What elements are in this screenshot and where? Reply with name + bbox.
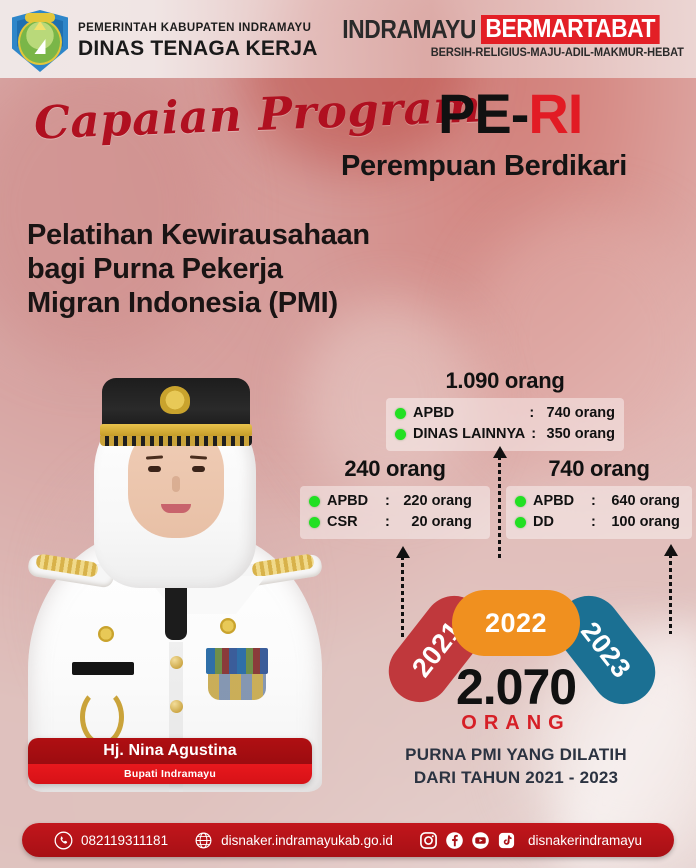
stat-panel-2023: APBD : 640 orang DD : 100 orang (506, 486, 692, 539)
total-unit-word: ORANG (416, 712, 616, 735)
stat-row-value: 220 orang (394, 491, 472, 512)
stat-row: DINAS LAINNYA : 350 orang (395, 424, 615, 445)
stat-row-label: DD (533, 512, 585, 533)
stat-row-colon: : (531, 424, 536, 445)
stat-row-value: 350 orang (540, 424, 615, 445)
poster-canvas: PEMERINTAH KABUPATEN INDRAMAYU DINAS TEN… (0, 0, 696, 868)
acronym-ri: RI (528, 82, 582, 145)
stat-row: APBD : 640 orang (515, 491, 683, 512)
brand-indramayu: INDRAMAYU (342, 14, 476, 45)
org-line-2: DINAS TENAGA KERJA (78, 38, 318, 59)
bullet-dot-icon (309, 517, 320, 528)
stat-panel-2021: APBD : 220 orang CSR : 20 orang (300, 486, 490, 539)
stat-row-colon: : (591, 491, 596, 512)
total-caption: PURNA PMI YANG DILATIH DARI TAHUN 2021 -… (356, 744, 676, 790)
stat-row-value: 740 orang (538, 403, 615, 424)
header-left-group: PEMERINTAH KABUPATEN INDRAMAYU DINAS TEN… (12, 10, 318, 72)
total-number: 2.070 (416, 662, 616, 712)
person-name: Hj. Nina Agustina (103, 742, 237, 760)
instagram-icon[interactable] (419, 831, 438, 850)
stat-row-label: CSR (327, 512, 379, 533)
footer-social-handle-text: disnakerindramayu (528, 833, 642, 848)
acronym-expansion: Perempuan Berdikari (341, 150, 627, 183)
footer-social-icons (419, 831, 516, 850)
bupati-portrait (10, 370, 340, 790)
stat-row-label: DINAS LAINNYA (413, 424, 525, 445)
footer-website-text: disnaker.indramayukab.go.id (221, 833, 393, 848)
indramayu-seal-icon (12, 10, 68, 72)
globe-icon (194, 831, 213, 850)
stat-row-colon: : (385, 491, 390, 512)
dotted-arrow-2023-icon (666, 544, 675, 634)
person-role: Bupati Indramayu (124, 768, 216, 780)
stat-row-value: 100 orang (600, 512, 680, 533)
stat-row: CSR : 20 orang (309, 512, 481, 533)
bullet-dot-icon (515, 517, 526, 528)
brand-bermartabat: BERMARTABAT (481, 15, 660, 44)
footer-phone-text: 082119311181 (81, 833, 168, 848)
dotted-arrow-2021-icon (398, 546, 407, 638)
page-subtitle: Pelatihan Kewirausahaan bagi Purna Peker… (27, 218, 370, 321)
subtitle-line-3: Migran Indonesia (PMI) (27, 286, 370, 320)
footer-website[interactable]: disnaker.indramayukab.go.id (194, 831, 393, 850)
stat-total-2023: 740 orang (506, 456, 692, 482)
acronym-dash: - (511, 82, 529, 145)
bullet-dot-icon (395, 429, 406, 440)
program-acronym: PE-RI (438, 86, 582, 142)
stat-row: DD : 100 orang (515, 512, 683, 533)
org-name-block: PEMERINTAH KABUPATEN INDRAMAYU DINAS TEN… (78, 23, 318, 59)
year-pill-2022: 2022 (452, 590, 580, 656)
brand-tagline: BERSIH-RELIGIUS-MAJU-ADIL-MAKMUR-HEBAT (339, 47, 684, 59)
footer-social-handle[interactable]: disnakerindramayu (528, 833, 642, 848)
year-label-2022: 2022 (485, 608, 547, 639)
stat-card-2023: 740 orang APBD : 640 orang DD : 100 oran… (506, 456, 692, 539)
facebook-icon[interactable] (445, 831, 464, 850)
stat-panel-2022: APBD : 740 orang DINAS LAINNYA : 350 ora… (386, 398, 624, 451)
stat-row: APBD : 220 orang (309, 491, 481, 512)
bullet-dot-icon (395, 408, 406, 419)
subtitle-line-1: Pelatihan Kewirausahaan (27, 218, 370, 252)
subtitle-line-2: bagi Purna Pekerja (27, 252, 370, 286)
acronym-pe: PE (438, 82, 511, 145)
stat-total-2022: 1.090 orang (386, 368, 624, 394)
youtube-icon[interactable] (471, 831, 490, 850)
stat-row-value: 20 orang (394, 512, 472, 533)
footer-phone[interactable]: 082119311181 (54, 831, 168, 850)
stat-card-2021: 240 orang APBD : 220 orang CSR : 20 oran… (300, 456, 490, 539)
stat-row: APBD : 740 orang (395, 403, 615, 424)
bullet-dot-icon (515, 496, 526, 507)
header-right-group: INDRAMAYU BERMARTABAT BERSIH-RELIGIUS-MA… (324, 14, 684, 59)
stat-row-value: 640 orang (600, 491, 680, 512)
total-caption-line-1: PURNA PMI YANG DILATIH (356, 744, 676, 767)
stat-row-colon: : (529, 403, 534, 424)
tiktok-icon[interactable] (497, 831, 516, 850)
stat-card-2022: 1.090 orang APBD : 740 orang DINAS LAINN… (386, 368, 624, 451)
stat-row-colon: : (385, 512, 390, 533)
total-caption-line-2: DARI TAHUN 2021 - 2023 (356, 767, 676, 790)
footer-contact-bar: 082119311181 disnaker.indramayukab.go.id (22, 823, 674, 857)
phone-icon (54, 831, 73, 850)
person-name-banner: Hj. Nina Agustina Bupati Indramayu (28, 738, 312, 784)
stat-row-label: APBD (327, 491, 379, 512)
stat-row-label: APBD (533, 491, 585, 512)
stat-row-colon: : (591, 512, 596, 533)
header-bar: PEMERINTAH KABUPATEN INDRAMAYU DINAS TEN… (0, 0, 696, 78)
stat-total-2021: 240 orang (300, 456, 490, 482)
bullet-dot-icon (309, 496, 320, 507)
org-line-1: PEMERINTAH KABUPATEN INDRAMAYU (78, 23, 318, 35)
dotted-arrow-2022-icon (495, 446, 504, 558)
stat-row-label: APBD (413, 403, 523, 424)
